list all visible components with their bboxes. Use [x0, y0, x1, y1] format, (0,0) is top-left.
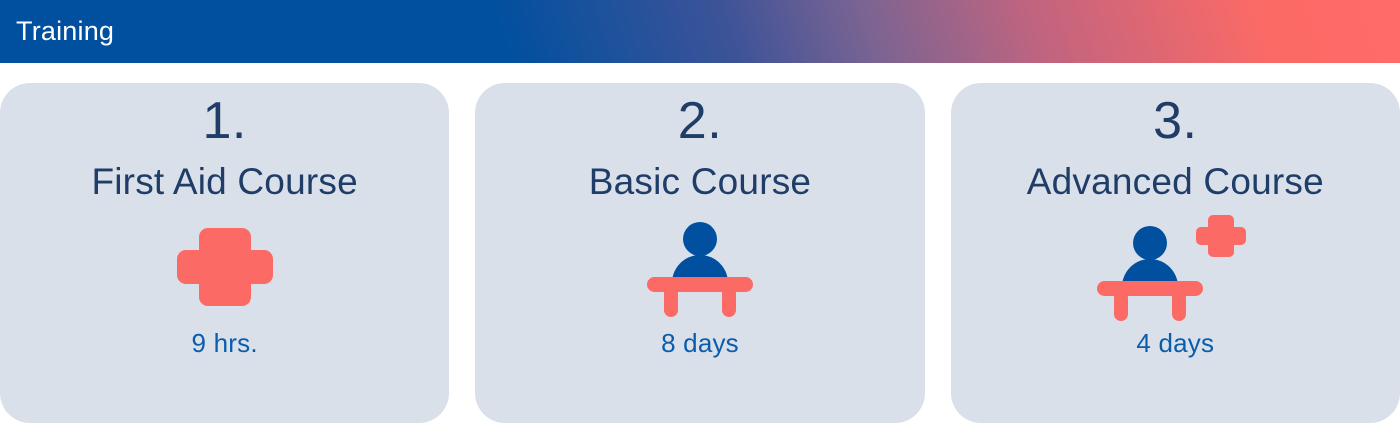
card-duration: 9 hrs.: [192, 330, 258, 356]
card-step-number: 2.: [678, 95, 722, 147]
course-card-first-aid[interactable]: 1. First Aid Course 9 hrs.: [0, 83, 449, 423]
page-title: Training: [16, 0, 114, 63]
course-card-basic[interactable]: 2. Basic Course 8 days: [475, 83, 924, 423]
person-at-desk-icon: [645, 216, 755, 318]
medical-cross-icon: [177, 216, 273, 318]
card-title: Advanced Course: [1027, 163, 1324, 200]
card-content: 2. Basic Course 8 days: [475, 83, 924, 400]
header-bar: Training: [0, 0, 1400, 63]
card-step-number: 1.: [202, 95, 246, 147]
card-title: First Aid Course: [91, 163, 357, 200]
course-card-list: 1. First Aid Course 9 hrs. 2. Basic Cour…: [0, 83, 1400, 400]
card-content: 1. First Aid Course 9 hrs.: [0, 83, 449, 400]
card-duration: 8 days: [661, 330, 739, 356]
card-duration: 4 days: [1136, 330, 1214, 356]
card-step-number: 3.: [1153, 95, 1197, 147]
course-card-advanced[interactable]: 3. Advanced Course: [951, 83, 1400, 423]
card-content: 3. Advanced Course: [951, 83, 1400, 400]
card-title: Basic Course: [589, 163, 811, 200]
person-at-desk-with-cross-icon: [1095, 216, 1255, 318]
training-overview-page: Training 1. First Aid Course 9 hrs. 2. B…: [0, 0, 1400, 400]
